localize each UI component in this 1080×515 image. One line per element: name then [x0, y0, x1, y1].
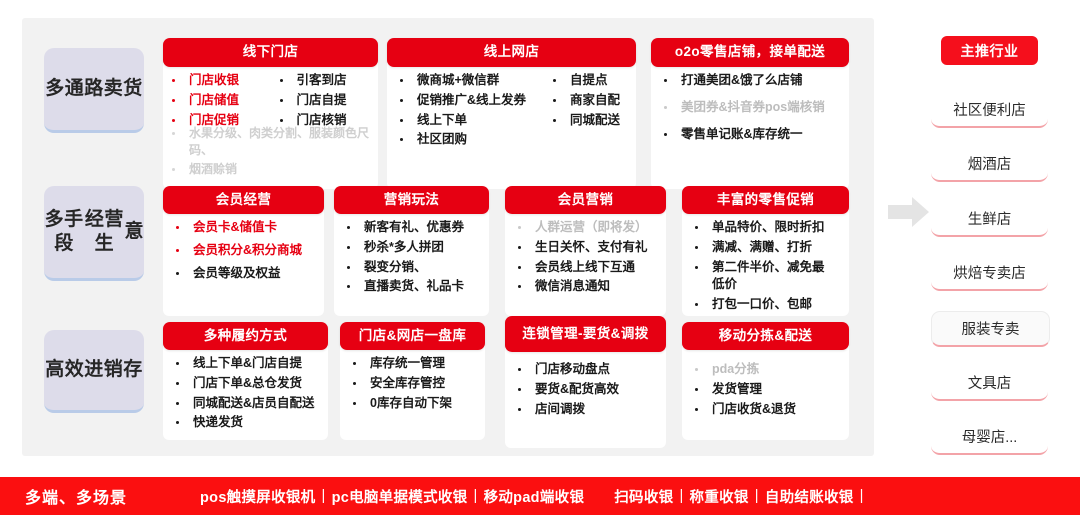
list-item: 同城配送&店员自配送: [167, 395, 324, 413]
card-column: 微商城+微信群 促销推广&线上发券 线上下单 社区团购: [391, 72, 544, 181]
list-item: 直播卖货、礼品卡: [338, 278, 485, 296]
list-item: 门店自提: [271, 92, 379, 110]
list-item: 会员线上线下互通: [509, 259, 662, 277]
industry-item-2[interactable]: 生鲜店: [931, 202, 1048, 237]
list-item: 门店收银: [163, 72, 271, 90]
row-label-line: 经营生: [84, 208, 124, 256]
bullet-list: pda分拣 发货管理 门店收货&退货: [686, 361, 845, 418]
industry-item-4[interactable]: 服装专卖: [931, 311, 1050, 347]
card-o2o-retail[interactable]: o2o零售店铺，接单配送 打通美团&饿了么店铺 美团券&抖音券pos端核销 零售…: [651, 38, 849, 189]
card-title: 连锁管理- 要货&调拨: [505, 316, 666, 352]
card-column: 门店移动盘点 要货&配货高效 店间调拨: [509, 357, 662, 440]
bullet-list: 打通美团&饿了么店铺 美团券&抖音券pos端核销 零售单记账&库存统一: [655, 72, 845, 143]
row-label-inventory: 高效 进销存: [44, 330, 144, 413]
row-label-line: 卖货: [104, 77, 143, 101]
bottom-bar-item: 称重收银: [690, 486, 749, 507]
bottom-bar-separator: |: [315, 488, 331, 504]
card-title: 多种履约方式: [163, 322, 328, 350]
industry-item-3[interactable]: 烘焙专卖店: [931, 256, 1048, 291]
list-item: 满减、满赠、打折: [686, 239, 845, 257]
list-item: 水果分级、肉类分割、服装颜色尺码、: [163, 125, 378, 159]
card-body: 线上下单&门店自提 门店下单&总仓发货 同城配送&店员自配送 快递发货: [163, 346, 328, 440]
list-item: 门店储值: [163, 92, 271, 110]
list-item: 微信消息通知: [509, 278, 662, 296]
card-chain-management[interactable]: 连锁管理- 要货&调拨 门店移动盘点 要货&配货高效 店间调拨: [505, 316, 666, 448]
arrow-right-icon: [888, 196, 930, 228]
list-item: 同城配送: [544, 112, 632, 130]
card-title: 丰富的零售促销: [682, 186, 849, 214]
list-item: 烟酒赊销: [163, 161, 378, 178]
card-title: o2o零售店铺，接单配送: [651, 38, 849, 67]
list-item: 安全库存管控: [344, 375, 481, 393]
card-online-store[interactable]: 线上网店 微商城+微信群 促销推广&线上发券 线上下单 社区团购 自提点 商家自…: [387, 38, 636, 189]
card-column: 线上下单&门店自提 门店下单&总仓发货 同城配送&店员自配送 快递发货: [167, 355, 324, 432]
bullet-list: 微商城+微信群 促销推广&线上发券 线上下单 社区团购: [391, 72, 544, 149]
card-body: 微商城+微信群 促销推广&线上发券 线上下单 社区团购 自提点 商家自配 同城配…: [387, 63, 636, 189]
card-offline-store[interactable]: 线下门店 门店收银 门店储值 门店促销 引客到店 门店自提 门店核销 水果分级、…: [163, 38, 378, 189]
card-column: 人群运营（即将发） 生日关怀、支付有礼 会员线上线下互通 微信消息通知: [509, 219, 662, 308]
card-title: 线上网店: [387, 38, 636, 67]
bullet-list-faint: 水果分级、肉类分割、服装颜色尺码、 烟酒赊销: [163, 125, 378, 180]
list-item: 打包一口价、包邮: [686, 296, 845, 314]
bullet-list: 人群运营（即将发） 生日关怀、支付有礼 会员线上线下互通 微信消息通知: [509, 219, 662, 296]
bullet-list: 单品特价、限时折扣 满减、满赠、打折 第二件半价、减免最低价 打包一口价、包邮: [686, 219, 845, 314]
list-item: 0库存自动下架: [344, 395, 481, 413]
card-column: 会员卡&储值卡 会员积分&积分商城 会员等级及权益: [167, 219, 320, 308]
bullet-list: 库存统一管理 安全库存管控 0库存自动下架: [344, 355, 481, 412]
list-item: 第二件半价、减免最低价: [686, 259, 832, 295]
row-label-line: 高效: [45, 358, 84, 382]
row-label-line: 多手段: [44, 208, 84, 256]
card-retail-promotion[interactable]: 丰富的零售促销 单品特价、限时折扣 满减、满赠、打折 第二件半价、减免最低价 打…: [682, 186, 849, 316]
card-body: 人群运营（即将发） 生日关怀、支付有礼 会员线上线下互通 微信消息通知: [505, 210, 666, 316]
list-item: 店间调拨: [509, 401, 662, 419]
bullet-list: 线上下单&门店自提 门店下单&总仓发货 同城配送&店员自配送 快递发货: [167, 355, 324, 432]
card-member-marketing[interactable]: 会员营销 人群运营（即将发） 生日关怀、支付有礼 会员线上线下互通 微信消息通知: [505, 186, 666, 316]
card-fulfillment[interactable]: 多种履约方式 线上下单&门店自提 门店下单&总仓发货 同城配送&店员自配送 快递…: [163, 322, 328, 440]
list-item: 会员等级及权益: [167, 265, 320, 283]
bullet-list: 门店移动盘点 要货&配货高效 店间调拨: [509, 361, 662, 418]
list-item: 门店移动盘点: [509, 361, 662, 379]
bullet-list: 门店收银 门店储值 门店促销: [163, 72, 271, 129]
list-item: 微商城+微信群: [391, 72, 544, 90]
card-unified-inventory[interactable]: 门店&网店一盘库 库存统一管理 安全库存管控 0库存自动下架: [340, 322, 485, 440]
card-marketing-play[interactable]: 营销玩法 新客有礼、优惠券 秒杀*多人拼团 裂变分销、 直播卖货、礼品卡: [334, 186, 489, 316]
industry-header: 主推行业: [941, 36, 1038, 65]
card-title: 会员经营: [163, 186, 324, 214]
list-item: 发货管理: [686, 381, 845, 399]
bottom-bar-item: 扫码收银: [614, 486, 673, 507]
list-item: 社区团购: [391, 131, 544, 149]
card-body: 打通美团&饿了么店铺 美团券&抖音券pos端核销 零售单记账&库存统一: [651, 63, 849, 189]
card-title: 营销玩法: [334, 186, 489, 214]
list-item: 裂变分销、: [338, 259, 485, 277]
card-column: 单品特价、限时折扣 满减、满赠、打折 第二件半价、减免最低价 打包一口价、包邮: [686, 219, 845, 308]
card-body: 库存统一管理 安全库存管控 0库存自动下架: [340, 346, 485, 440]
bullet-list: 会员卡&储值卡 会员积分&积分商城 会员等级及权益: [167, 219, 320, 282]
bottom-bar-separator: |: [749, 488, 765, 504]
list-item: 自提点: [544, 72, 632, 90]
card-column: pda分拣 发货管理 门店收货&退货: [686, 355, 845, 432]
list-item: 会员积分&积分商城: [167, 242, 320, 260]
bottom-bar-items: pos触摸屏收银机 | pc电脑单据模式收银 | 移动pad端收银 扫码收银 |…: [200, 486, 870, 507]
card-column: 自提点 商家自配 同城配送: [544, 72, 632, 181]
list-item: 促销推广&线上发券: [391, 92, 544, 110]
card-title: 门店&网店一盘库: [340, 322, 485, 350]
card-title: 移动分拣&配送: [682, 322, 849, 350]
row-label-multimeans: 多手段 经营生 意: [44, 186, 144, 281]
card-body: 门店移动盘点 要货&配货高效 店间调拨: [505, 348, 666, 448]
card-column: 打通美团&饿了么店铺 美团券&抖音券pos端核销 零售单记账&库存统一: [655, 72, 845, 181]
bottom-bar: 多端、多场景 pos触摸屏收银机 | pc电脑单据模式收银 | 移动pad端收银…: [0, 477, 1080, 515]
bottom-bar-item: 自助结账收银: [765, 486, 854, 507]
card-mobile-sorting[interactable]: 移动分拣&配送 pda分拣 发货管理 门店收货&退货: [682, 322, 849, 440]
bottom-bar-item: 移动pad端收银: [484, 486, 585, 507]
list-item: 线上下单: [391, 112, 544, 130]
list-item: 门店下单&总仓发货: [167, 375, 324, 393]
row-label-multichannel: 多通路 卖货: [44, 48, 144, 133]
card-title-line: 要货&调拨: [583, 326, 649, 343]
list-item: 生日关怀、支付有礼: [509, 239, 662, 257]
card-body: 门店收银 门店储值 门店促销 引客到店 门店自提 门店核销 水果分级、肉类分割、…: [163, 63, 378, 189]
card-title: 会员营销: [505, 186, 666, 214]
bottom-bar-item: pc电脑单据模式收银: [332, 486, 468, 507]
card-title-line: 连锁管理-: [522, 326, 583, 343]
industry-item-1[interactable]: 烟酒店: [931, 147, 1048, 182]
bottom-bar-item: pos触摸屏收银机: [200, 486, 315, 507]
bottom-bar-separator: |: [854, 488, 870, 504]
list-item: 打通美团&饿了么店铺: [655, 72, 845, 90]
list-item: 线上下单&门店自提: [167, 355, 324, 373]
row-label-line: 意: [124, 220, 144, 244]
list-item: pda分拣: [686, 361, 845, 379]
list-item: 要货&配货高效: [509, 381, 662, 399]
card-title: 线下门店: [163, 38, 378, 67]
list-item: 新客有礼、优惠券: [338, 219, 485, 237]
bottom-bar-label: 多端、多场景: [25, 484, 200, 508]
card-body: pda分拣 发货管理 门店收货&退货: [682, 346, 849, 440]
list-item: 门店收货&退货: [686, 401, 845, 419]
bottom-bar-separator: |: [467, 488, 483, 504]
row-label-line: 多通路: [45, 77, 104, 101]
bullet-list: 引客到店 门店自提 门店核销: [271, 72, 379, 129]
list-item: 快递发货: [167, 414, 324, 432]
bullet-list: 新客有礼、优惠券 秒杀*多人拼团 裂变分销、 直播卖货、礼品卡: [338, 219, 485, 296]
card-member-ops[interactable]: 会员经营 会员卡&储值卡 会员积分&积分商城 会员等级及权益: [163, 186, 324, 316]
infographic-root: 多通路 卖货 多手段 经营生 意 高效 进销存 线下门店 门店收银 门店储值 门…: [0, 0, 1080, 515]
list-item: 零售单记账&库存统一: [655, 126, 845, 144]
bottom-bar-separator: |: [673, 488, 689, 504]
list-item: 库存统一管理: [344, 355, 481, 373]
list-item: 单品特价、限时折扣: [686, 219, 845, 237]
list-item: 商家自配: [544, 92, 632, 110]
card-column: 新客有礼、优惠券 秒杀*多人拼团 裂变分销、 直播卖货、礼品卡: [338, 219, 485, 308]
card-body: 会员卡&储值卡 会员积分&积分商城 会员等级及权益: [163, 210, 324, 316]
industry-item-5[interactable]: 文具店: [931, 366, 1048, 401]
list-item: 会员卡&储值卡: [167, 219, 320, 237]
list-item: 引客到店: [271, 72, 379, 90]
row-label-line: 进销存: [84, 358, 143, 382]
industry-item-0[interactable]: 社区便利店: [931, 93, 1048, 128]
card-body: 新客有礼、优惠券 秒杀*多人拼团 裂变分销、 直播卖货、礼品卡: [334, 210, 489, 316]
card-column: 库存统一管理 安全库存管控 0库存自动下架: [344, 355, 481, 432]
industry-item-6[interactable]: 母婴店...: [931, 420, 1048, 455]
card-body: 单品特价、限时折扣 满减、满赠、打折 第二件半价、减免最低价 打包一口价、包邮: [682, 210, 849, 316]
list-item: 秒杀*多人拼团: [338, 239, 485, 257]
list-item: 人群运营（即将发）: [509, 219, 662, 237]
list-item: 美团券&抖音券pos端核销: [655, 99, 845, 117]
bullet-list: 自提点 商家自配 同城配送: [544, 72, 632, 129]
